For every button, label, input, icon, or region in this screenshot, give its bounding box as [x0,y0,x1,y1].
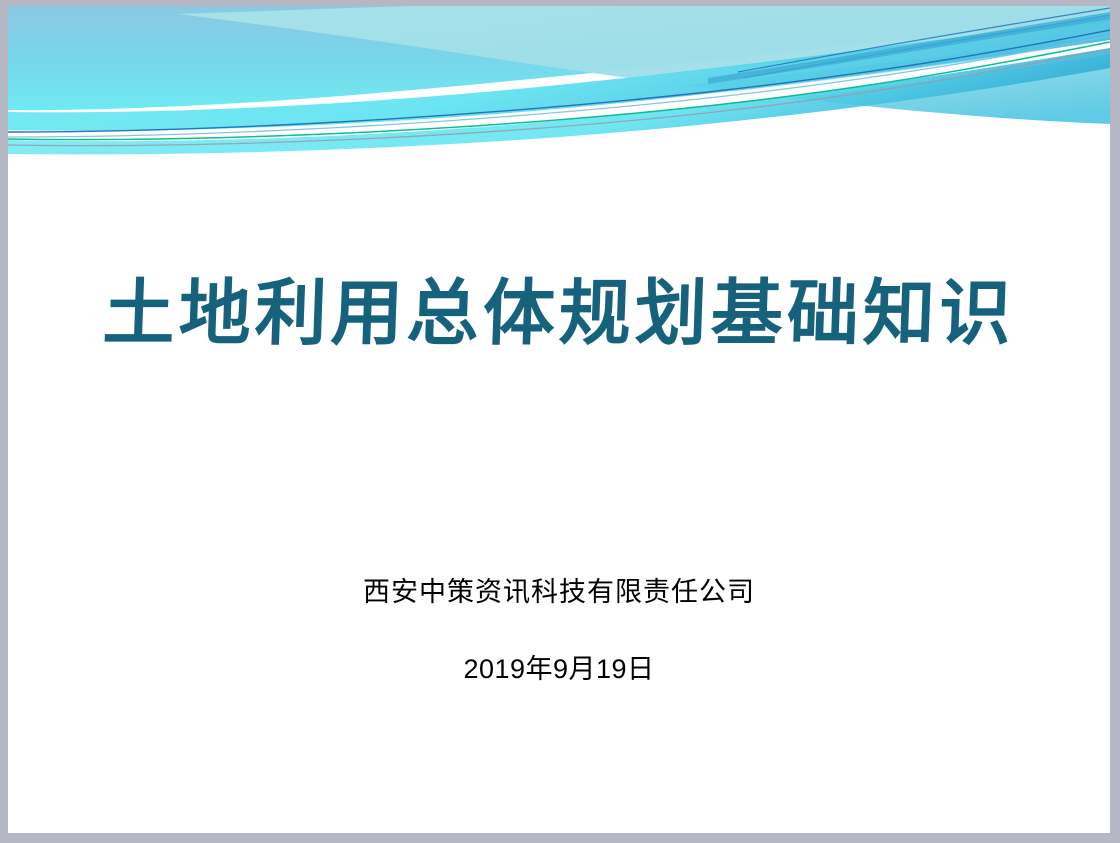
title-placeholder: 土地利用总体规划基础知识 [8,268,1110,358]
organization-name: 西安中策资讯科技有限责任公司 [8,576,1110,608]
flowing-wave-ribbon-decoration [8,6,1110,156]
page-title: 土地利用总体规划基础知识 [8,268,1110,358]
subtitle-placeholder: 西安中策资讯科技有限责任公司 2019年9月19日 [8,576,1110,686]
slide-window-frame: 土地利用总体规划基础知识 西安中策资讯科技有限责任公司 2019年9月19日 [0,0,1120,843]
presentation-date: 2019年9月19日 [8,653,1110,685]
slide-canvas: 土地利用总体规划基础知识 西安中策资讯科技有限责任公司 2019年9月19日 [8,6,1110,833]
wave-graphic [8,6,1110,156]
